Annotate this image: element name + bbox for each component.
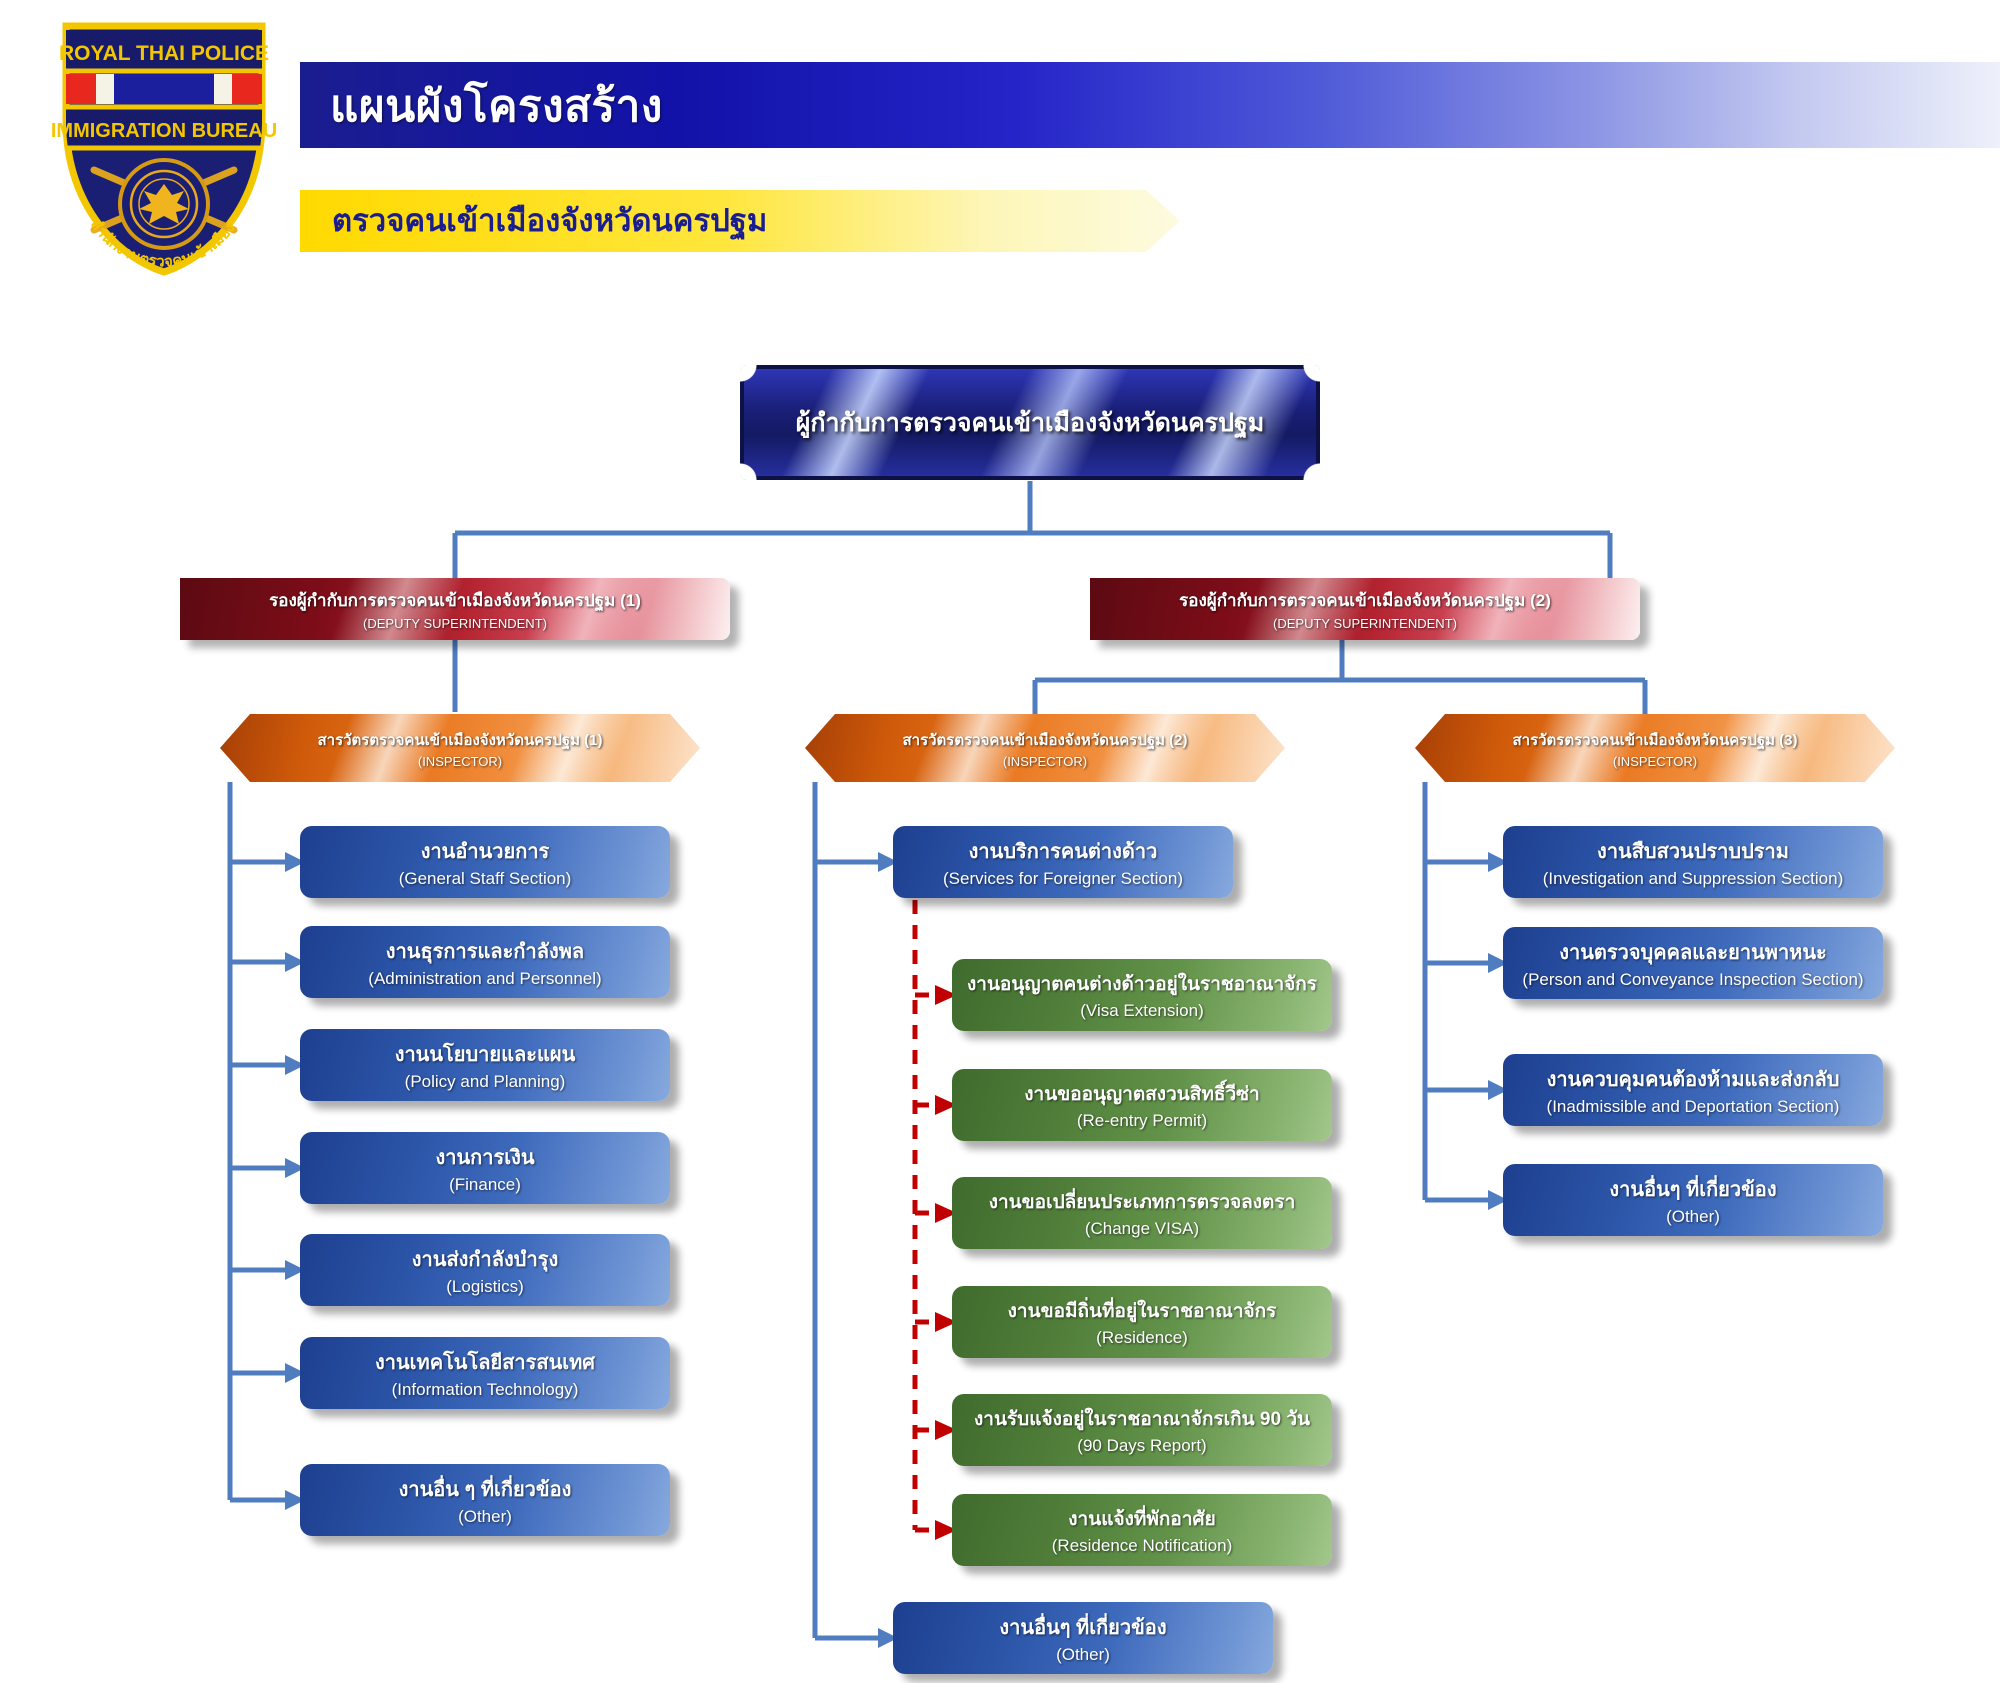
node-col3-person-conveyance-inspection[interactable]: งานตรวจบุคคลและยานพาหนะ (Person and Conv… [1503,927,1883,999]
node-col1-6-th: งานอื่น ๆ ที่เกี่ยวข้อง [399,1473,572,1505]
node-inspector-3-en: (INSPECTOR) [1613,754,1697,769]
node-col2-services-for-foreigner[interactable]: งานบริการคนต่างด้าว (Services for Foreig… [893,826,1233,898]
node-col2-change-visa[interactable]: งานขอเปลี่ยนประเภทการตรวจลงตรา (Change V… [952,1177,1332,1249]
node-inspector-3-th: สารวัตรตรวจคนเข้าเมืองจังหวัดนครปฐม (3) [1513,728,1798,752]
node-col3-0-en: (Investigation and Suppression Section) [1543,869,1844,889]
node-inspector-3[interactable]: สารวัตรตรวจคนเข้าเมืองจังหวัดนครปฐม (3) … [1415,714,1895,782]
node-deputy-2-en: (DEPUTY SUPERINTENDENT) [1273,616,1457,631]
node-col1-logistics[interactable]: งานส่งกำลังบำรุง (Logistics) [300,1234,670,1306]
node-col3-1-en: (Person and Conveyance Inspection Sectio… [1522,970,1863,990]
node-col1-5-th: งานเทคโนโลยีสารสนเทศ [375,1346,595,1378]
badge-line2-text: IMMIGRATION BUREAU [51,120,277,142]
node-col1-2-en: (Policy and Planning) [405,1072,566,1092]
node-superintendent-th: ผู้กำกับการตรวจคนเข้าเมืองจังหวัดนครปฐม [796,403,1265,443]
node-col2-4-th: งานรับแจ้งอยู่ในราชอาณาจักรเกิน 90 วัน [974,1404,1310,1434]
node-col2-head-th: งานบริการคนต่างด้าว [969,835,1158,867]
node-col1-0-th: งานอำนวยการ [421,835,550,867]
node-col1-4-th: งานส่งกำลังบำรุง [412,1243,558,1275]
page-title: แผนผังโครงสร้าง [330,70,1330,144]
node-col1-0-en: (General Staff Section) [399,869,572,889]
node-col1-3-th: งานการเงิน [435,1141,534,1173]
node-col2-5-en: (Residence Notification) [1052,1536,1232,1556]
node-col3-inadmissible-deportation[interactable]: งานควบคุมคนต้องห้ามและส่งกลับ (Inadmissi… [1503,1054,1883,1126]
node-col1-1-en: (Administration and Personnel) [368,969,601,989]
node-col1-policy-planning[interactable]: งานนโยบายและแผน (Policy and Planning) [300,1029,670,1101]
node-inspector-2[interactable]: สารวัตรตรวจคนเข้าเมืองจังหวัดนครปฐม (2) … [805,714,1285,782]
node-col1-finance[interactable]: งานการเงิน (Finance) [300,1132,670,1204]
page-subtitle: ตรวจคนเข้าเมืองจังหวัดนครปฐม [332,190,767,252]
node-col1-administration-personnel[interactable]: งานธุรการและกำลังพล (Administration and … [300,926,670,998]
node-col2-visa-extension[interactable]: งานอนุญาตคนต่างด้าวอยู่ในราชอาณาจักร (Vi… [952,959,1332,1031]
node-col1-1-th: งานธุรการและกำลังพล [386,935,584,967]
node-col2-1-th: งานขออนุญาตสงวนสิทธิ์วีซ่า [1024,1079,1259,1109]
node-col1-2-th: งานนโยบายและแผน [395,1038,576,1070]
node-col2-3-en: (Residence) [1096,1328,1188,1348]
node-deputy-2-th: รองผู้กำกับการตรวจคนเข้าเมืองจังหวัดนครป… [1179,587,1551,614]
node-col3-2-th: งานควบคุมคนต้องห้ามและส่งกลับ [1547,1063,1840,1095]
badge-line1-text: ROYAL THAI POLICE [59,42,269,65]
node-col3-3-th: งานอื่นๆ ที่เกี่ยวข้อง [1609,1173,1776,1205]
node-col2-1-en: (Re-entry Permit) [1077,1111,1207,1131]
node-col1-other[interactable]: งานอื่น ๆ ที่เกี่ยวข้อง (Other) [300,1464,670,1536]
node-col1-general-staff[interactable]: งานอำนวยการ (General Staff Section) [300,826,670,898]
node-deputy-1[interactable]: รองผู้กำกับการตรวจคนเข้าเมืองจังหวัดนครป… [180,578,730,640]
node-col2-2-th: งานขอเปลี่ยนประเภทการตรวจลงตรา [989,1187,1296,1217]
node-col2-residence-notification[interactable]: งานแจ้งที่พักอาศัย (Residence Notificati… [952,1494,1332,1566]
node-inspector-1-th: สารวัตรตรวจคนเข้าเมืองจังหวัดนครปฐม (1) [318,728,603,752]
node-col3-2-en: (Inadmissible and Deportation Section) [1547,1097,1840,1117]
node-col3-other[interactable]: งานอื่นๆ ที่เกี่ยวข้อง (Other) [1503,1164,1883,1236]
node-col2-residence[interactable]: งานขอมีถิ่นที่อยู่ในราชอาณาจักร (Residen… [952,1286,1332,1358]
node-col3-investigation-suppression[interactable]: งานสืบสวนปราบปราม (Investigation and Sup… [1503,826,1883,898]
node-deputy-2[interactable]: รองผู้กำกับการตรวจคนเข้าเมืองจังหวัดนครป… [1090,578,1640,640]
node-col3-1-th: งานตรวจบุคคลและยานพาหนะ [1559,936,1827,968]
node-deputy-1-th: รองผู้กำกับการตรวจคนเข้าเมืองจังหวัดนครป… [269,587,641,614]
node-col1-information-technology[interactable]: งานเทคโนโลยีสารสนเทศ (Information Techno… [300,1337,670,1409]
node-col1-6-en: (Other) [458,1507,512,1527]
royal-thai-police-badge-icon: ROYAL THAI POLICE IMMIGRATION BUREAU สำน… [38,12,290,280]
node-col2-4-en: (90 Days Report) [1077,1436,1206,1456]
node-col1-4-en: (Logistics) [446,1277,523,1297]
node-col2-other[interactable]: งานอื่นๆ ที่เกี่ยวข้อง (Other) [893,1602,1273,1674]
node-col2-other-th: งานอื่นๆ ที่เกี่ยวข้อง [999,1611,1166,1643]
node-col2-0-en: (Visa Extension) [1080,1001,1203,1021]
node-col2-re-entry-permit[interactable]: งานขออนุญาตสงวนสิทธิ์วีซ่า (Re-entry Per… [952,1069,1332,1141]
node-col2-3-th: งานขอมีถิ่นที่อยู่ในราชอาณาจักร [1008,1296,1277,1326]
node-inspector-1[interactable]: สารวัตรตรวจคนเข้าเมืองจังหวัดนครปฐม (1) … [220,714,700,782]
node-col2-90-days-report[interactable]: งานรับแจ้งอยู่ในราชอาณาจักรเกิน 90 วัน (… [952,1394,1332,1466]
node-inspector-1-en: (INSPECTOR) [418,754,502,769]
node-deputy-1-en: (DEPUTY SUPERINTENDENT) [363,616,547,631]
node-col2-head-en: (Services for Foreigner Section) [943,869,1183,889]
node-superintendent[interactable]: ผู้กำกับการตรวจคนเข้าเมืองจังหวัดนครปฐม [740,365,1320,480]
node-inspector-2-th: สารวัตรตรวจคนเข้าเมืองจังหวัดนครปฐม (2) [903,728,1188,752]
node-col2-2-en: (Change VISA) [1085,1219,1199,1239]
org-chart-page: แผนผังโครงสร้าง ตรวจคนเข้าเมืองจังหวัดนค… [0,0,2000,1683]
node-col2-other-en: (Other) [1056,1645,1110,1665]
node-col2-0-th: งานอนุญาตคนต่างด้าวอยู่ในราชอาณาจักร [967,969,1317,999]
node-col2-5-th: งานแจ้งที่พักอาศัย [1068,1504,1215,1534]
node-col3-0-th: งานสืบสวนปราบปราม [1597,835,1789,867]
node-col1-5-en: (Information Technology) [392,1380,579,1400]
node-col1-3-en: (Finance) [449,1175,521,1195]
node-inspector-2-en: (INSPECTOR) [1003,754,1087,769]
node-col3-3-en: (Other) [1666,1207,1720,1227]
